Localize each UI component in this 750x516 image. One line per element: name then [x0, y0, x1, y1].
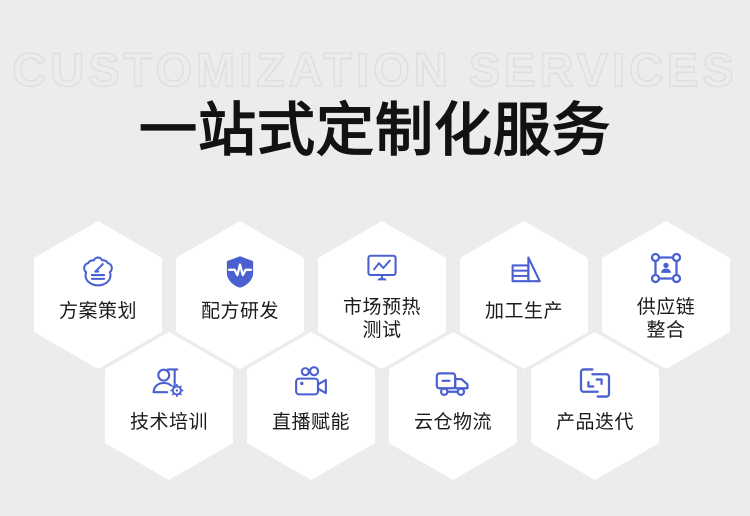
- service-label: 技术培训: [130, 411, 208, 434]
- service-card-shi-chang-yu-re-ce-shi[interactable]: 市场预热 测试: [318, 221, 446, 369]
- service-label: 产品迭代: [556, 411, 634, 434]
- shield-pulse-icon: [219, 251, 261, 293]
- service-label: 方案策划: [59, 300, 137, 323]
- service-label: 云仓物流: [414, 411, 492, 434]
- service-card-gong-ying-lian-zheng-he[interactable]: 供应链 整合: [602, 221, 730, 369]
- supply-network-icon: [645, 247, 687, 289]
- outline-heading: CUSTOMIZATION SERVICES: [0, 44, 750, 96]
- service-card-pei-fang-yan-fa[interactable]: 配方研发: [176, 221, 304, 369]
- page-title: 一站式定制化服务: [0, 98, 750, 164]
- person-gear-icon: [148, 362, 190, 404]
- monitor-chart-icon: [361, 247, 403, 289]
- video-camera-icon: [290, 362, 332, 404]
- delivery-truck-icon: [432, 362, 474, 404]
- service-label: 加工生产: [485, 300, 563, 323]
- service-card-zhi-bo-fu-neng[interactable]: 直播赋能: [247, 332, 375, 480]
- services-hex-grid: 方案策划 配方研发 市场预热 测试: [0, 200, 750, 516]
- service-card-ji-shu-pei-xun[interactable]: 技术培训: [105, 332, 233, 480]
- service-card-yun-cang-wu-liu[interactable]: 云仓物流: [389, 332, 517, 480]
- service-card-chan-pin-die-dai[interactable]: 产品迭代: [531, 332, 659, 480]
- service-label: 直播赋能: [272, 411, 350, 434]
- service-card-jia-gong-sheng-chan[interactable]: 加工生产: [460, 221, 588, 369]
- service-label: 配方研发: [201, 300, 279, 323]
- service-card-fang-an-ce-hua[interactable]: 方案策划: [34, 221, 162, 369]
- iteration-arrows-icon: [574, 362, 616, 404]
- page-header: CUSTOMIZATION SERVICES 一站式定制化服务: [0, 0, 750, 200]
- factory-icon: [503, 251, 545, 293]
- service-label: 市场预热 测试: [343, 296, 421, 342]
- service-label: 供应链 整合: [637, 296, 696, 342]
- cloud-pen-icon: [77, 251, 119, 293]
